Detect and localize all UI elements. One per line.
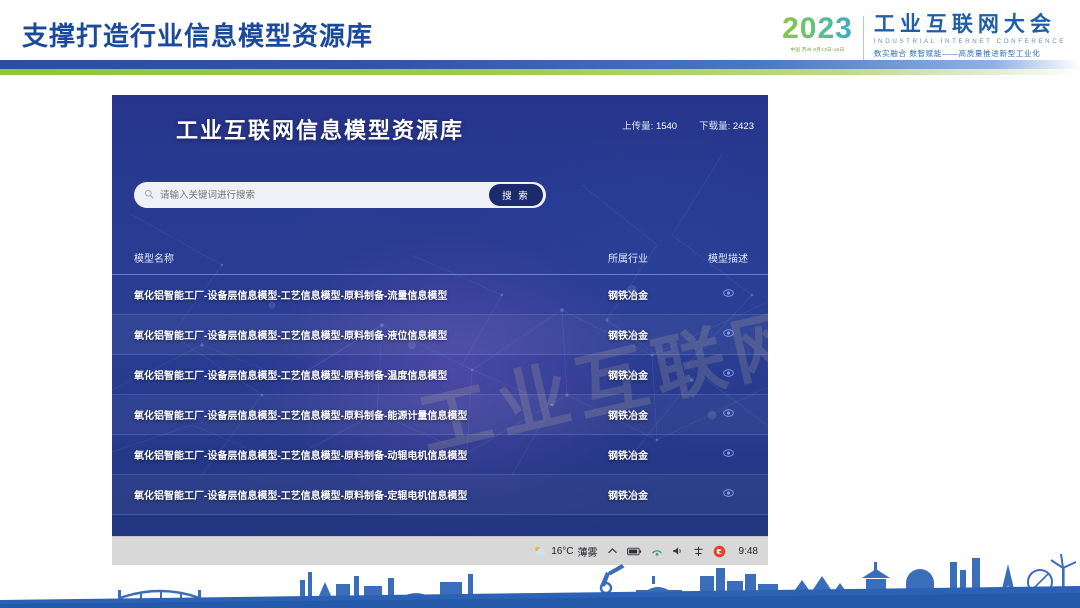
eye-icon[interactable] (723, 369, 734, 379)
cell-description[interactable] (688, 449, 768, 460)
conference-logo: 2023 中国 苏州 8月13日-15日 工业互联网大会 INDUSTRIAL … (782, 14, 1066, 62)
table-header-row: 模型名称 所属行业 模型描述 (112, 240, 768, 275)
column-header-description: 模型描述 (688, 250, 768, 265)
logo-slogan: 数实融合 数智赋能——高质量推进新型工业化 (874, 48, 1066, 59)
app-screenshot: 工业互联网大会 工业互联网信息模型资源库 上传量: 1540 下载量: 2423… (112, 95, 768, 536)
table-row[interactable]: 氧化铝智能工厂-设备层信息模型-工艺信息模型-原料制备-定辊电机信息模型钢铁冶金 (112, 475, 768, 515)
eye-icon[interactable] (723, 449, 734, 459)
eye-icon[interactable] (723, 409, 734, 419)
table-row[interactable]: 氧化铝智能工厂-设备层信息模型-工艺信息模型-原料制备-动辊电机信息模型钢铁冶金 (112, 435, 768, 475)
cell-model-name: 氧化铝智能工厂-设备层信息模型-工艺信息模型-原料制备-动辊电机信息模型 (112, 447, 568, 462)
logo-year-subtitle: 中国 苏州 8月13日-15日 (790, 47, 844, 53)
cell-description[interactable] (688, 409, 768, 420)
search-input[interactable] (154, 189, 489, 202)
search-button[interactable]: 搜 索 (489, 184, 543, 206)
search-icon (144, 186, 154, 204)
cell-description[interactable] (688, 289, 768, 300)
download-value: 2423 (733, 121, 754, 132)
cell-description[interactable] (688, 329, 768, 340)
cell-industry: 钢铁冶金 (568, 447, 688, 462)
table-row[interactable]: 氧化铝智能工厂-设备层信息模型-工艺信息模型-原料制备-流量信息模型钢铁冶金 (112, 275, 768, 315)
cell-model-name: 氧化铝智能工厂-设备层信息模型-工艺信息模型-原料制备-液位信息模型 (112, 327, 568, 342)
upload-label: 上传量: (622, 121, 653, 132)
logo-name-cn: 工业互联网大会 (874, 14, 1066, 36)
table-row[interactable]: 氧化铝智能工厂-设备层信息模型-工艺信息模型-原料制备-能源计量信息模型钢铁冶金 (112, 395, 768, 435)
cell-model-name: 氧化铝智能工厂-设备层信息模型-工艺信息模型-原料制备-温度信息模型 (112, 367, 568, 382)
cell-industry: 钢铁冶金 (568, 287, 688, 302)
logo-name-en: INDUSTRIAL INTERNET CONFERENCE (874, 38, 1066, 45)
table-body: 氧化铝智能工厂-设备层信息模型-工艺信息模型-原料制备-流量信息模型钢铁冶金氧化… (112, 275, 768, 515)
search-bar[interactable]: 搜 索 (134, 182, 546, 208)
download-count: 下载量: 2423 (699, 118, 754, 132)
cell-description[interactable] (688, 369, 768, 380)
column-header-industry: 所属行业 (568, 250, 688, 265)
model-table: 模型名称 所属行业 模型描述 氧化铝智能工厂-设备层信息模型-工艺信息模型-原料… (112, 240, 768, 515)
eye-icon[interactable] (723, 289, 734, 299)
eye-icon[interactable] (723, 329, 734, 339)
cell-industry: 钢铁冶金 (568, 487, 688, 502)
eye-icon[interactable] (723, 489, 734, 499)
cell-model-name: 氧化铝智能工厂-设备层信息模型-工艺信息模型-原料制备-能源计量信息模型 (112, 407, 568, 422)
upload-count: 上传量: 1540 (622, 118, 677, 132)
cell-model-name: 氧化铝智能工厂-设备层信息模型-工艺信息模型-原料制备-定辊电机信息模型 (112, 487, 568, 502)
cell-industry: 钢铁冶金 (568, 407, 688, 422)
cell-description[interactable] (688, 489, 768, 500)
download-label: 下载量: (699, 121, 730, 132)
logo-year-block: 2023 中国 苏州 8月13日-15日 (782, 14, 863, 53)
city-skyline-decoration (0, 548, 1080, 608)
column-header-name: 模型名称 (112, 250, 568, 265)
cell-industry: 钢铁冶金 (568, 327, 688, 342)
upload-value: 1540 (656, 121, 677, 132)
header-rule-green (0, 69, 1080, 75)
cell-industry: 钢铁冶金 (568, 367, 688, 382)
stats-group: 上传量: 1540 下载量: 2423 (622, 118, 754, 132)
cell-model-name: 氧化铝智能工厂-设备层信息模型-工艺信息模型-原料制备-流量信息模型 (112, 287, 568, 302)
table-row[interactable]: 氧化铝智能工厂-设备层信息模型-工艺信息模型-原料制备-温度信息模型钢铁冶金 (112, 355, 768, 395)
app-title: 工业互联网信息模型资源库 (176, 113, 464, 145)
page-title: 支撑打造行业信息模型资源库 (22, 16, 373, 53)
logo-year: 2023 (782, 14, 853, 44)
logo-name-block: 工业互联网大会 INDUSTRIAL INTERNET CONFERENCE 数… (864, 14, 1066, 59)
table-row[interactable]: 氧化铝智能工厂-设备层信息模型-工艺信息模型-原料制备-液位信息模型钢铁冶金 (112, 315, 768, 355)
app-header: 工业互联网信息模型资源库 上传量: 1540 下载量: 2423 (112, 95, 768, 170)
